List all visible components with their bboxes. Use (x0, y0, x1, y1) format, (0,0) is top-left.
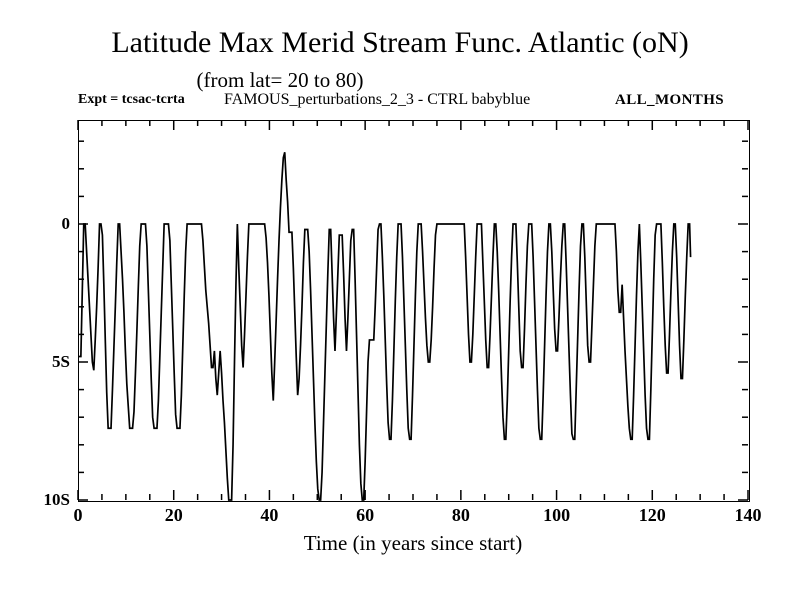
x-tick-label: 0 (48, 505, 108, 525)
page-title: Latitude Max Merid Stream Func. Atlantic… (0, 26, 800, 60)
x-tick-label: 60 (335, 505, 395, 525)
x-tick-label: 40 (239, 505, 299, 525)
x-tick-label: 20 (144, 505, 204, 525)
experiment-caption: Expt = tcsac-tcrta FAMOUS_perturbations_… (78, 90, 748, 110)
months-label: ALL_MONTHS (615, 90, 724, 110)
x-axis-title: Time (in years since start) (78, 531, 748, 555)
x-tick-label: 120 (622, 505, 682, 525)
experiment-comparison-label: FAMOUS_perturbations_2_3 - CTRL babyblue (224, 90, 530, 110)
experiment-name-label: Expt = tcsac-tcrta (78, 90, 185, 110)
plot-area (78, 120, 748, 500)
axis-ticks (78, 120, 748, 500)
y-tick-label: 5S (8, 353, 70, 370)
x-tick-label: 100 (527, 505, 587, 525)
data-series-line (78, 152, 691, 500)
x-tick-label: 80 (431, 505, 491, 525)
subtitle: (from lat= 20 to 80) (0, 68, 560, 92)
y-tick-label: 0 (8, 215, 70, 232)
x-tick-label: 140 (718, 505, 778, 525)
